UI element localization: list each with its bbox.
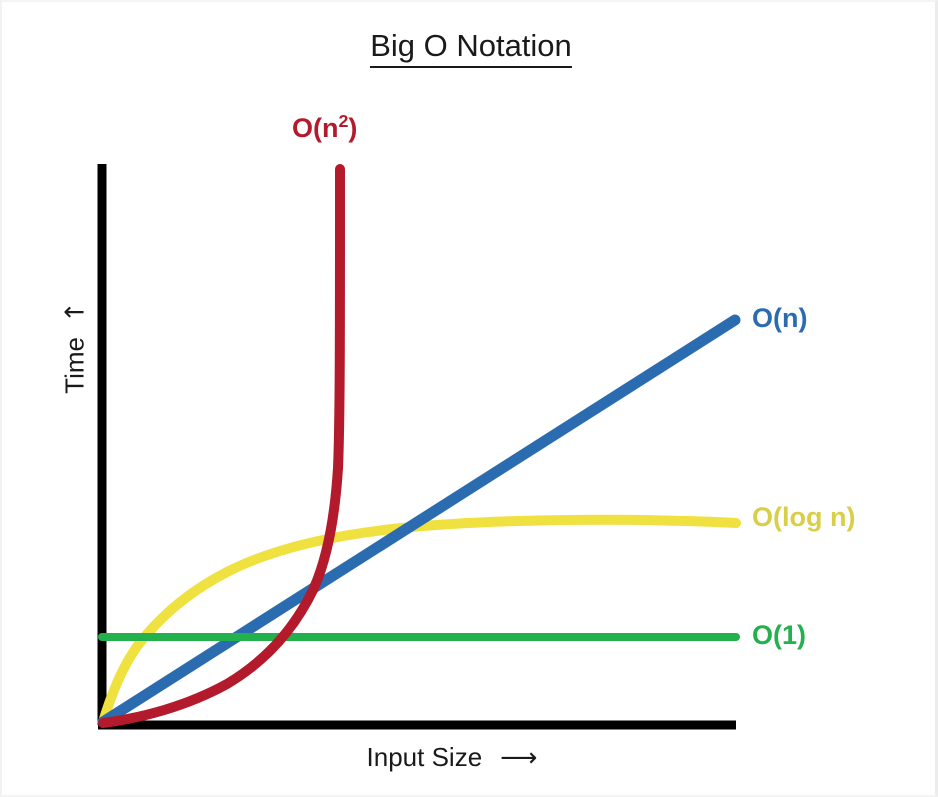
x-axis-arrow-icon: ⟶ [482, 743, 537, 773]
y-axis-label-text: Time [60, 337, 90, 394]
x-axis-label-text: Input Size [367, 742, 483, 772]
y-axis-label: Time↑ [60, 263, 91, 433]
series-label-quadratic-close: ) [348, 113, 357, 143]
y-axis-arrow-icon: ↑ [61, 301, 91, 337]
big-o-notation-figure: Big O Notation O(n2) O(n) O(log n) O(1) … [0, 0, 938, 797]
plot-area [2, 2, 938, 797]
curve-o-log-n [103, 520, 736, 722]
series-label-linear: O(n) [752, 305, 807, 332]
series-label-quadratic-exponent: 2 [339, 111, 349, 131]
series-label-constant: O(1) [752, 622, 806, 649]
x-axis-label: Input Size⟶ [242, 742, 662, 773]
series-label-quadratic: O(n2) [292, 115, 357, 142]
series-label-logarithmic: O(log n) [752, 504, 855, 531]
series-curves [102, 169, 736, 723]
series-label-quadratic-base: O(n [292, 113, 339, 143]
